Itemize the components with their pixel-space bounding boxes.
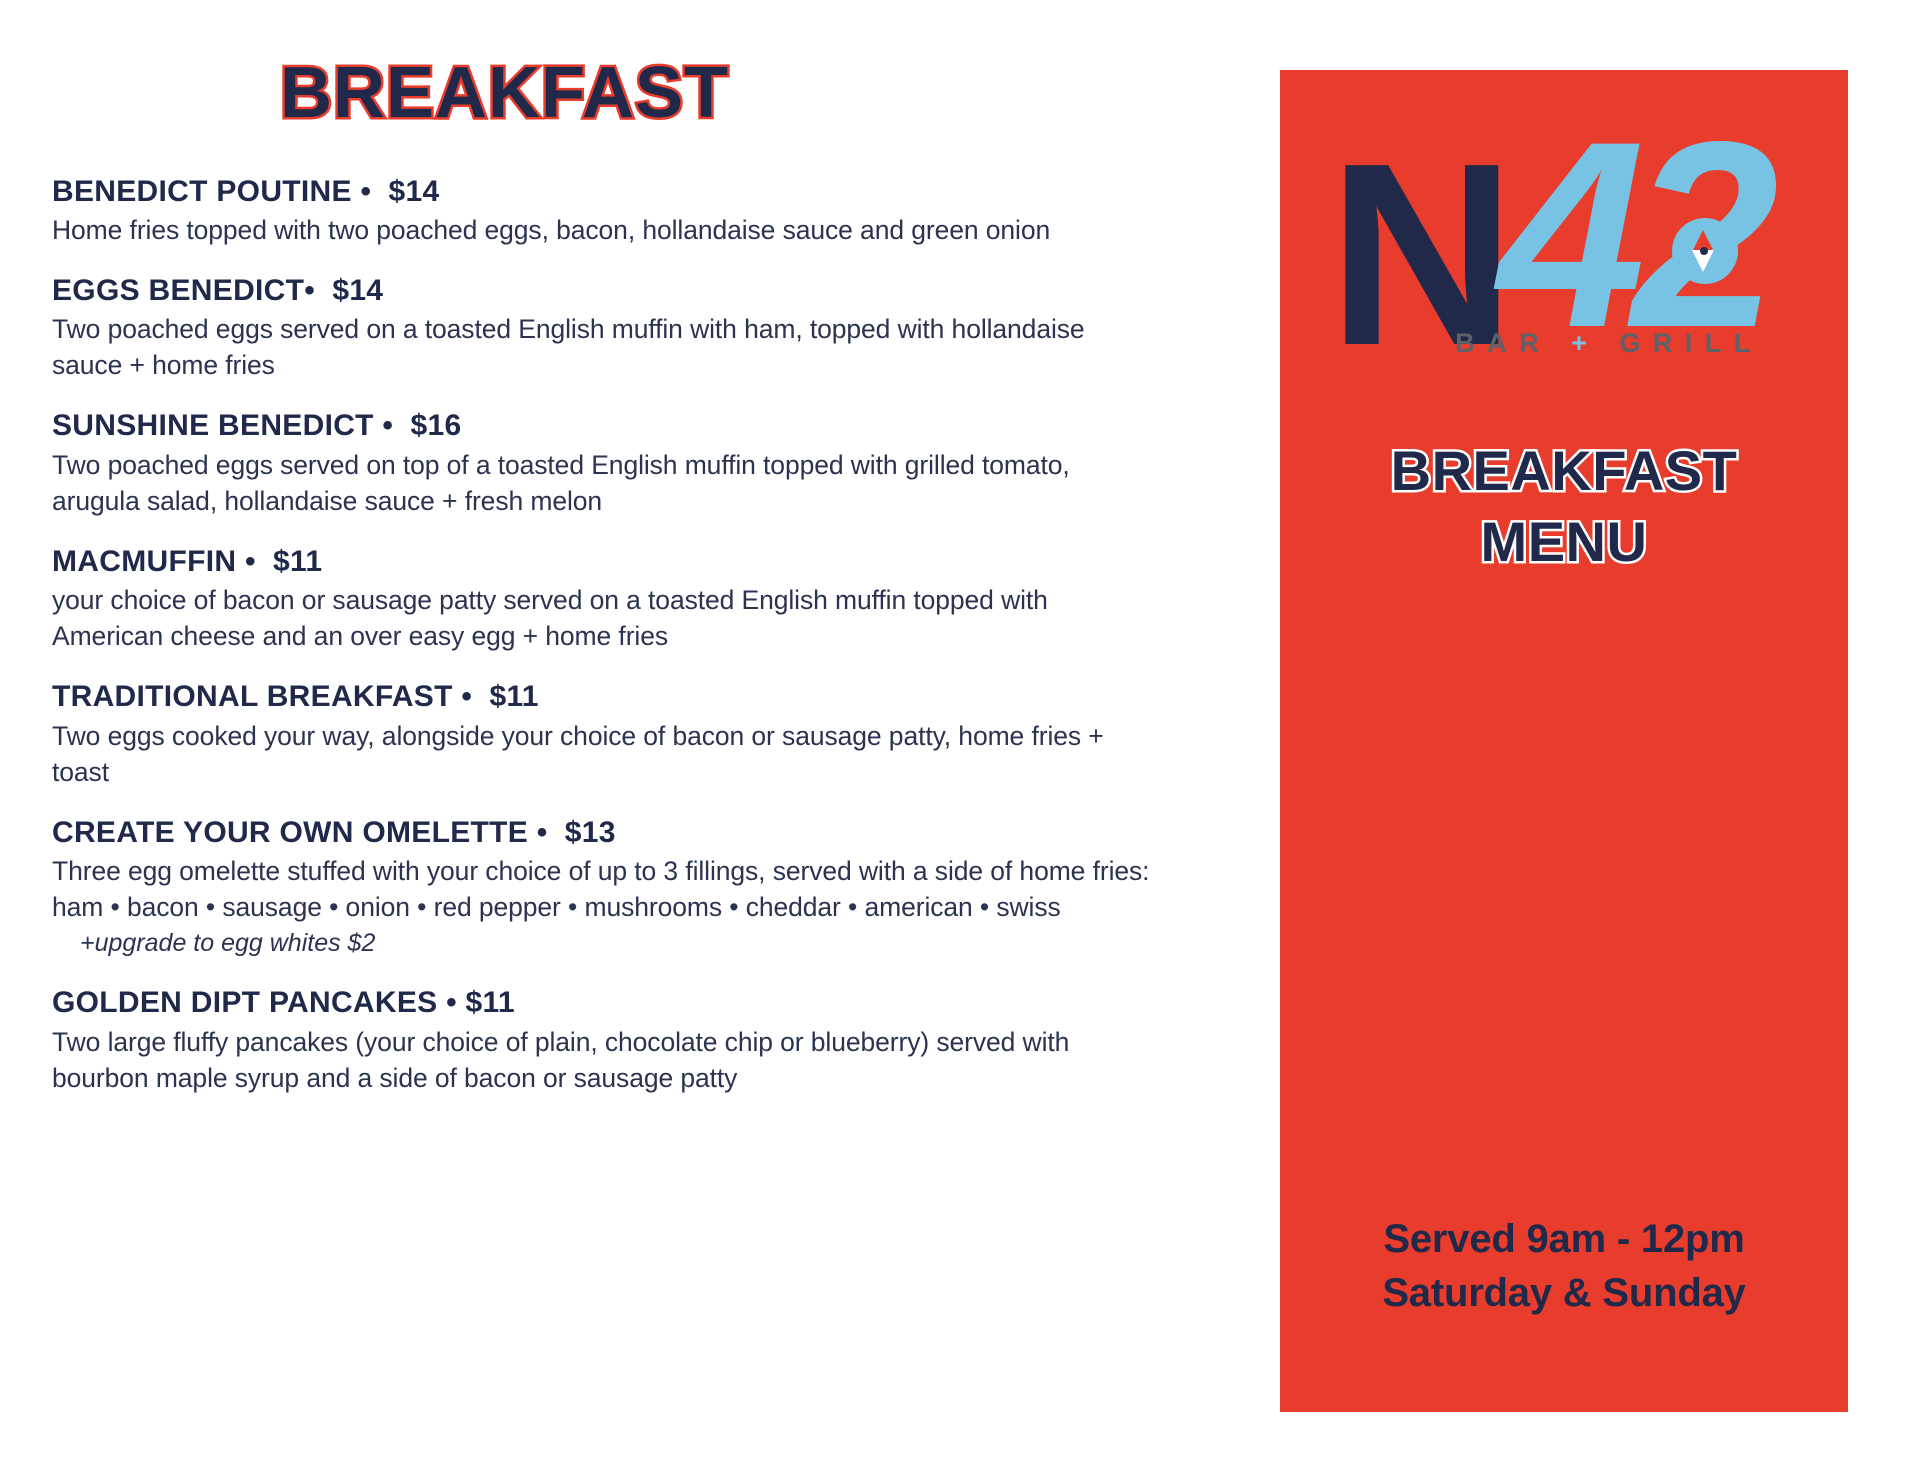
panel-heading-menu: MENU [1280, 507, 1848, 578]
menu-item: EGGS BENEDICT• $14 Two poached eggs serv… [52, 273, 1202, 383]
menu-item: TRADITIONAL BREAKFAST • $11 Two eggs coo… [52, 679, 1202, 789]
logo-letter-n: N [1328, 154, 1510, 357]
menu-item-description: Home fries topped with two poached eggs,… [52, 212, 1157, 248]
menu-item-heading: TRADITIONAL BREAKFAST • $11 [52, 679, 1202, 714]
menu-items-list: BENEDICT POUTINE • $14 Home fries topped… [52, 174, 1202, 1096]
menu-item: BENEDICT POUTINE • $14 Home fries topped… [52, 174, 1202, 248]
service-hours-line1: Served 9am - 12pm [1280, 1212, 1848, 1266]
compass-icon [1672, 218, 1738, 284]
menu-item: GOLDEN DIPT PANCAKES • $11 Two large flu… [52, 985, 1202, 1095]
menu-item: SUNSHINE BENEDICT • $16 Two poached eggs… [52, 408, 1202, 518]
menu-item-description: Two poached eggs served on top of a toas… [52, 447, 1157, 519]
panel-heading-breakfast: BREAKFAST [1280, 436, 1848, 507]
menu-item: CREATE YOUR OWN OMELETTE • $13 Three egg… [52, 815, 1202, 960]
menu-item-description: Three egg omelette stuffed with your cho… [52, 853, 1157, 925]
menu-item-heading: MACMUFFIN • $11 [52, 544, 1202, 579]
service-hours: Served 9am - 12pm Saturday & Sunday [1280, 1212, 1848, 1320]
menu-item-heading: EGGS BENEDICT• $14 [52, 273, 1202, 308]
brand-panel: N 42 BAR + GRILL BREAKFAST MENU Served 9… [1280, 70, 1848, 1412]
service-hours-line2: Saturday & Sunday [1280, 1266, 1848, 1320]
menu-item-upgrade-note: +upgrade to egg whites $2 [80, 926, 1202, 960]
menu-item-description: Two large fluffy pancakes (your choice o… [52, 1024, 1157, 1096]
menu-item-description: your choice of bacon or sausage patty se… [52, 582, 1157, 654]
tagline-plus-icon: + [1571, 328, 1599, 358]
logo-block: N 42 BAR + GRILL [1280, 70, 1848, 400]
logo-tagline: BAR + GRILL [1280, 328, 1848, 359]
menu-item-heading: SUNSHINE BENEDICT • $16 [52, 408, 1202, 443]
menu-item: MACMUFFIN • $11 your choice of bacon or … [52, 544, 1202, 654]
menu-column: BREAKFAST BENEDICT POUTINE • $14 Home fr… [52, 0, 1202, 1484]
menu-item-heading: GOLDEN DIPT PANCAKES • $11 [52, 985, 1202, 1020]
menu-page: BREAKFAST BENEDICT POUTINE • $14 Home fr… [0, 0, 1920, 1484]
menu-item-heading: BENEDICT POUTINE • $14 [52, 174, 1202, 209]
tagline-bar: BAR [1455, 328, 1571, 358]
menu-item-description: Two eggs cooked your way, alongside your… [52, 718, 1157, 790]
compass-hub-icon [1700, 247, 1708, 255]
tagline-grill: GRILL [1599, 328, 1763, 358]
menu-item-heading: CREATE YOUR OWN OMELETTE • $13 [52, 815, 1202, 850]
page-title: BREAKFAST [280, 56, 1202, 132]
menu-item-description: Two poached eggs served on a toasted Eng… [52, 311, 1157, 383]
